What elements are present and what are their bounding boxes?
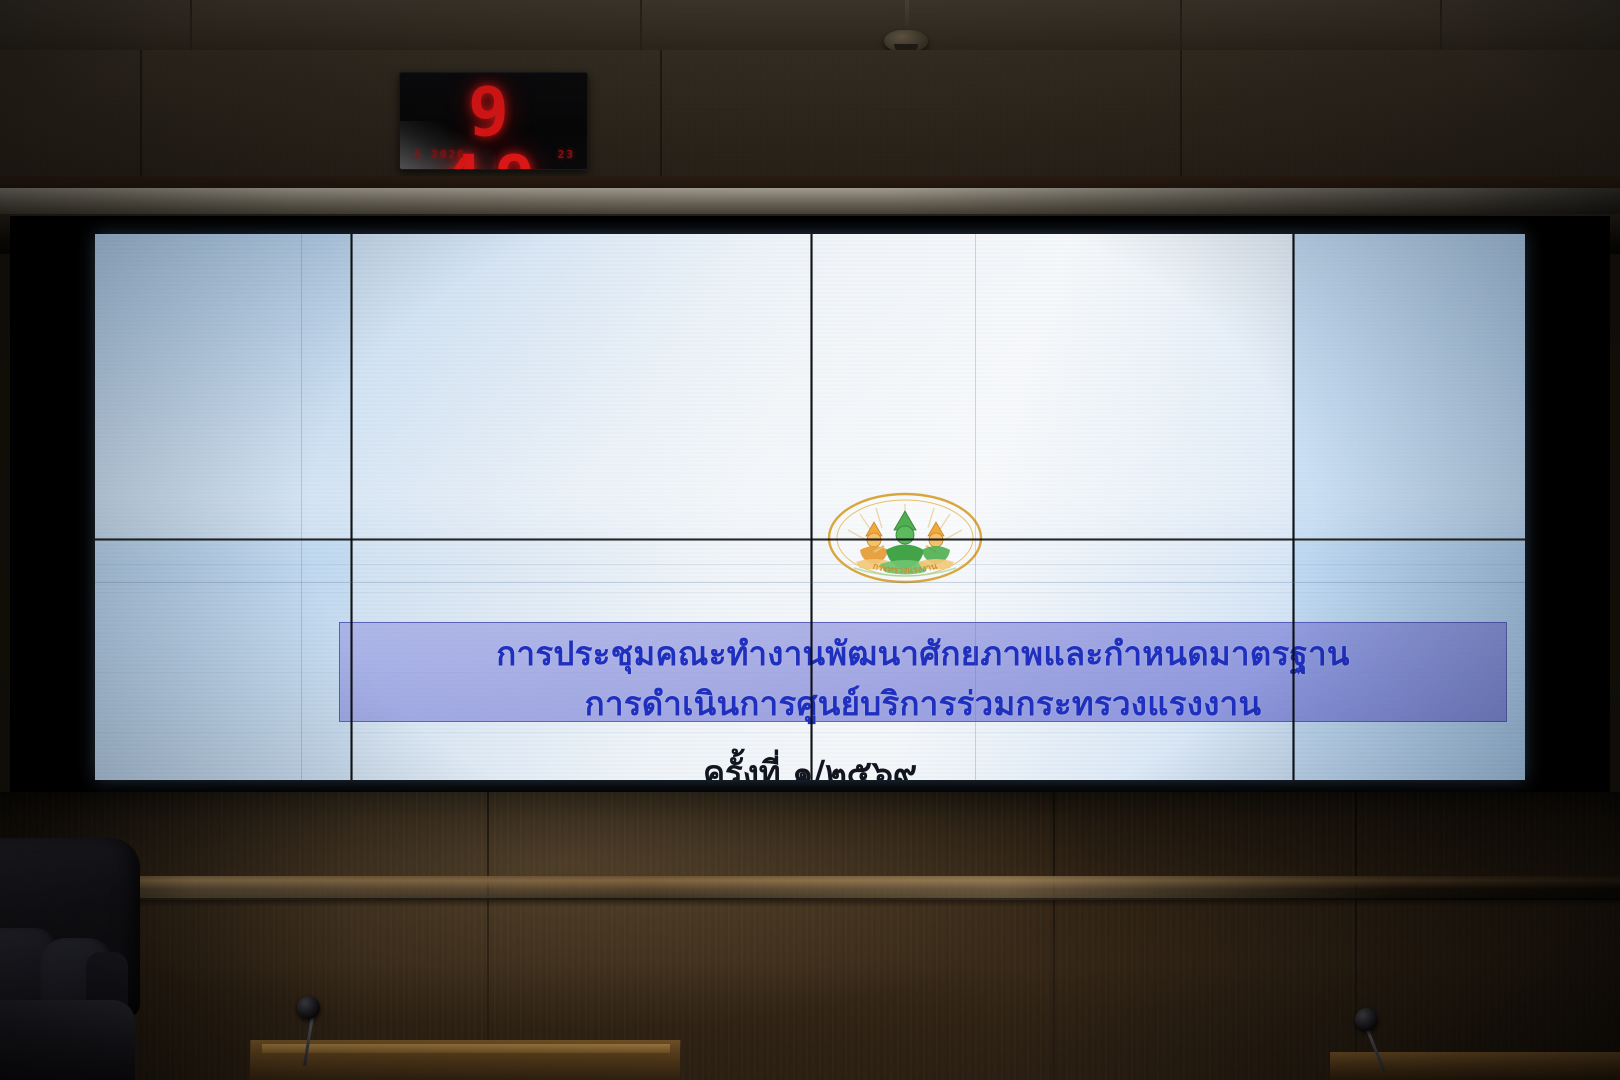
panel-seam-vertical — [350, 234, 353, 780]
presentation-screen[interactable]: กระทรวงแรงงาน การประชุมคณะทำงานพัฒนาศักย… — [95, 234, 1525, 780]
panel-seam-horizontal — [95, 582, 1525, 583]
clock-secondary-row: 1 2026 23 — [400, 148, 588, 161]
microphone-icon[interactable] — [297, 996, 320, 1019]
wall-joint — [140, 50, 142, 185]
clock-seconds-display: 23 — [558, 148, 575, 161]
panel-seam-vertical — [810, 234, 813, 780]
clock-date-display: 1 2026 — [414, 148, 466, 161]
upper-wall — [0, 50, 1620, 185]
ministry-of-labour-emblem: กระทรวงแรงงาน — [820, 490, 990, 595]
wall-trim-rail — [0, 876, 1620, 900]
wall-joint — [660, 50, 662, 185]
digital-wall-clock: 9 49 1 2026 23 — [399, 72, 588, 170]
conference-desk-right — [1330, 1052, 1620, 1080]
video-wall-frame: กระทรวงแรงงาน การประชุมคณะทำงานพัฒนาศักย… — [10, 216, 1610, 794]
slide-title-box: การประชุมคณะทำงานพัฒนาศักยภาพและกำหนดมาต… — [339, 622, 1507, 722]
panel-tint — [1292, 234, 1525, 538]
wood-lighting — [0, 792, 1620, 1080]
panel-tint — [95, 541, 350, 780]
wood-wall — [0, 792, 1620, 1080]
wood-panel-seam — [487, 792, 489, 1080]
panel-seam-horizontal — [95, 538, 1525, 541]
wall-trim-shadow — [0, 898, 1620, 907]
panel-seam-vertical — [975, 234, 976, 780]
microphone-icon[interactable] — [1355, 1008, 1378, 1031]
wall-joint — [1180, 50, 1182, 185]
panel-seam-vertical — [1292, 234, 1295, 780]
wood-panel-seam — [1355, 792, 1357, 1080]
panel-tint — [350, 234, 810, 538]
panel-seam-vertical — [301, 234, 302, 780]
sprinkler-stem — [905, 0, 909, 34]
slide-title-line-1: การประชุมคณะทำงานพัฒนาศักยภาพและกำหนดมาต… — [340, 623, 1506, 670]
panel-tint — [95, 234, 350, 538]
wood-panel-seam — [1053, 792, 1055, 1080]
slide-title-line-2: การดำเนินการศูนย์บริการร่วมกระทรวงแรงงาน — [340, 670, 1506, 720]
desk-edge-trim — [262, 1044, 670, 1053]
meeting-room: 9 49 1 2026 23 — [0, 0, 1620, 1080]
chair-seat — [0, 1000, 135, 1080]
